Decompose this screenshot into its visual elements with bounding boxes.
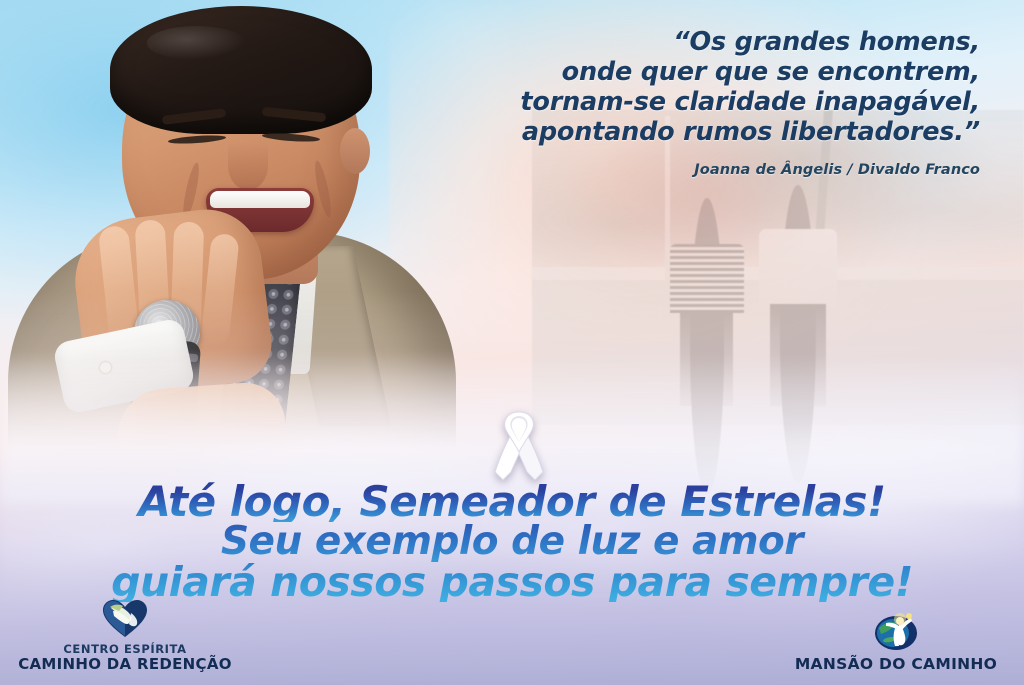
heart-hands-icon xyxy=(101,599,149,639)
logo-left-line-2: CAMINHO DA REDENÇÃO xyxy=(12,656,238,673)
quote-line-4: apontando rumos libertadores.” xyxy=(420,117,980,147)
headline-line-1: Até logo, Semeador de Estrelas! xyxy=(0,482,1024,522)
logo-mansao-do-caminho: MANSÃO DO CAMINHO xyxy=(776,610,1016,673)
portrait-cuff-button xyxy=(100,362,111,373)
tribute-poster: “Os grandes homens, onde quer que se enc… xyxy=(0,0,1024,685)
portrait-fade-mask xyxy=(0,0,470,470)
white-ribbon-icon xyxy=(487,406,551,488)
portrait-hair xyxy=(110,6,372,134)
globe-figure-icon xyxy=(873,610,919,652)
quote-line-1: “Os grandes homens, xyxy=(420,27,980,57)
portrait-teeth xyxy=(210,191,310,208)
background-person-torso xyxy=(670,244,744,315)
portrait-divaldo-franco xyxy=(0,0,470,470)
background-person-legs xyxy=(680,310,733,406)
headline-line-2: Seu exemplo de luz e amor xyxy=(0,522,1024,562)
background-person-white-shirt xyxy=(759,185,838,406)
quote-attribution: Joanna de Ângelis / Divaldo Franco xyxy=(420,162,980,178)
quote-line-2: onde quer que se encontrem, xyxy=(420,57,980,87)
background-person-legs xyxy=(770,304,827,405)
headline-line-3: guiará nossos passos para sempre! xyxy=(0,562,1024,602)
background-person-striped-shirt xyxy=(670,198,744,406)
logo-right-line-2: MANSÃO DO CAMINHO xyxy=(776,656,1016,673)
background-person-torso xyxy=(759,229,838,308)
quote-line-3: tornam-se claridade inapagável, xyxy=(420,87,980,117)
logo-centro-espirita-caminho-da-redencao: CENTRO ESPÍRITA CAMINHO DA REDENÇÃO xyxy=(12,599,238,673)
quote-block: “Os grandes homens, onde quer que se enc… xyxy=(420,27,980,178)
headline-block: Até logo, Semeador de Estrelas! Seu exem… xyxy=(0,482,1024,602)
portrait-nose xyxy=(228,142,268,190)
portrait-ear xyxy=(340,128,370,174)
